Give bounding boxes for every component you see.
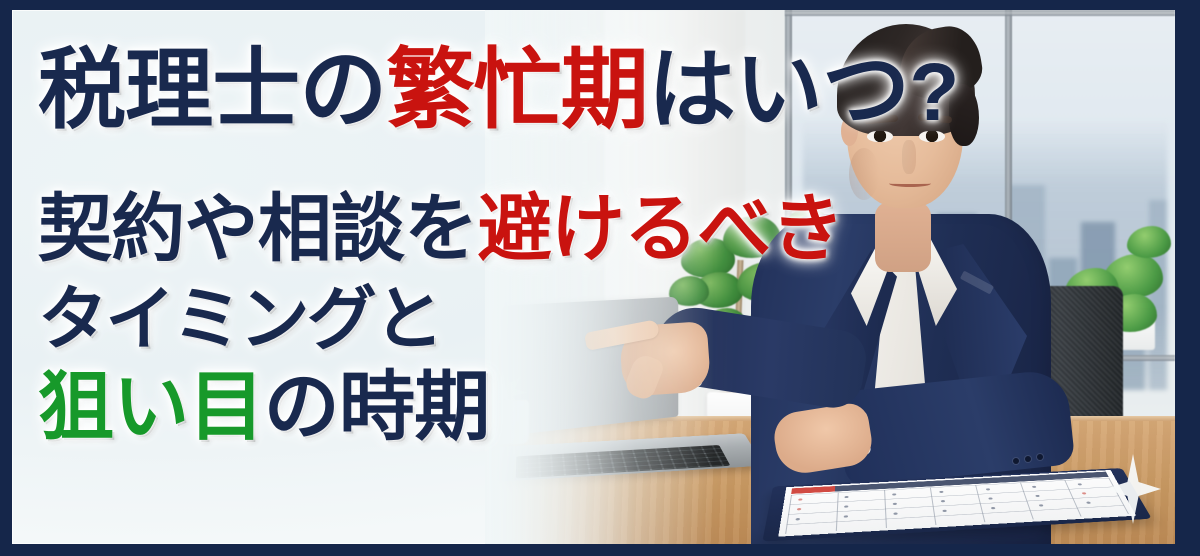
headline-l3-seg1: タイミングと (38, 280, 441, 358)
headline-l2-seg1: 契約や相談を (38, 187, 478, 270)
headline-l1-seg1: 税理士の (38, 40, 386, 139)
headline-l4-seg2: の時期 (264, 365, 490, 450)
banner-canvas: 税理士の繁忙期はいつ? 契約や相談を避けるべき タイミングと 狙い目の時期 (12, 10, 1175, 544)
headline-line-3: タイミングと (38, 284, 918, 354)
headline-l1-seg3: はいつ (648, 40, 909, 139)
headline-l1-seg4: ? (909, 47, 958, 138)
headline-block: 税理士の繁忙期はいつ? 契約や相談を避けるべき タイミングと 狙い目の時期 (38, 40, 918, 446)
headline-line-2: 契約や相談を避けるべき (38, 192, 918, 266)
headline-l1-seg2: 繁忙期 (386, 40, 647, 139)
hero-banner: 税理士の繁忙期はいつ? 契約や相談を避けるべき タイミングと 狙い目の時期 (0, 0, 1200, 556)
headline-l2-seg2: 避けるべき (478, 187, 844, 270)
headline-line-1: 税理士の繁忙期はいつ? (38, 46, 918, 134)
headline-l4-seg1: 狙い目 (38, 365, 264, 450)
headline-line-4: 狙い目の時期 (38, 370, 918, 446)
